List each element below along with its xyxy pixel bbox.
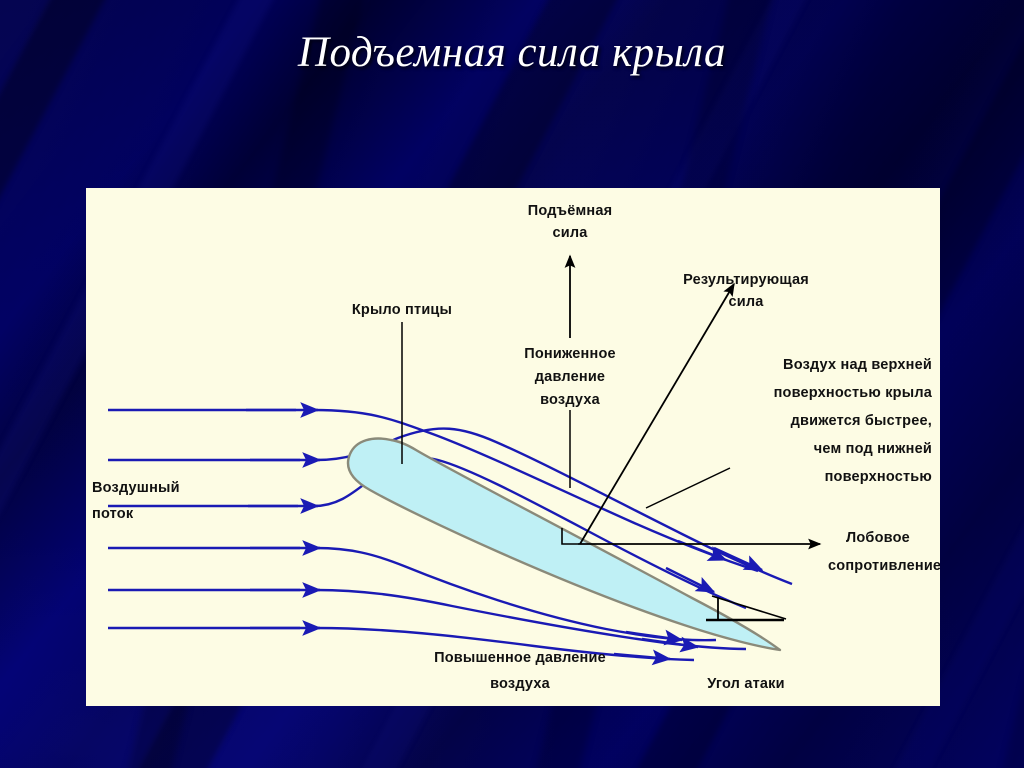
slide: Подъемная сила крыла <box>0 0 1024 768</box>
label-upper-flow-line-2: поверхностью крыла <box>774 385 933 401</box>
label-high-pressure-line-1: Повышенное давление <box>434 650 606 666</box>
label-wing-line-1: Крыло птицы <box>352 302 452 318</box>
label-upper-flow-note: Воздух над верхней поверхностью крыла дв… <box>774 357 933 485</box>
label-upper-flow-line-4: чем под нижней <box>814 441 932 457</box>
label-low-pressure-line-3: воздуха <box>540 392 600 408</box>
label-low-pressure-line-1: Пониженное <box>524 346 616 362</box>
label-upper-flow-line-5: поверхностью <box>825 469 932 485</box>
label-drag: Лобовое сопротивление <box>828 530 940 574</box>
label-low-pressure-line-2: давление <box>535 369 605 385</box>
slide-title: Подъемная сила крыла <box>0 28 1024 77</box>
label-upper-flow-line-3: движется быстрее, <box>791 413 932 429</box>
label-drag-line-1: Лобовое <box>846 530 910 546</box>
label-high-pressure: Повышенное давление воздуха <box>434 650 606 692</box>
label-lift-line-2: сила <box>552 225 588 241</box>
label-low-pressure: Пониженное давление воздуха <box>524 346 616 408</box>
label-lift: Подъёмная сила <box>528 203 613 241</box>
label-wing: Крыло птицы <box>352 302 452 318</box>
label-lift-line-1: Подъёмная <box>528 203 613 219</box>
label-attack-angle-line-1: Угол атаки <box>707 676 784 692</box>
label-airflow-line-1: Воздушный <box>92 480 180 496</box>
label-drag-line-2: сопротивление <box>828 558 940 574</box>
upper-flow-note-leader <box>646 468 730 508</box>
label-attack-angle: Угол атаки <box>707 676 784 692</box>
label-resultant-line-1: Результирующая <box>683 272 809 288</box>
diagram-panel: Подъёмная сила Пониженное давление возду… <box>86 188 940 706</box>
label-airflow-line-2: поток <box>92 506 134 522</box>
label-airflow: Воздушный поток <box>92 480 180 522</box>
label-resultant-line-2: сила <box>728 294 764 310</box>
resultant-force-arrow <box>580 284 734 544</box>
wing-lift-diagram: Подъёмная сила Пониженное давление возду… <box>86 188 940 706</box>
label-resultant-force: Результирующая сила <box>683 272 809 310</box>
label-upper-flow-line-1: Воздух над верхней <box>783 357 932 373</box>
label-high-pressure-line-2: воздуха <box>490 676 550 692</box>
